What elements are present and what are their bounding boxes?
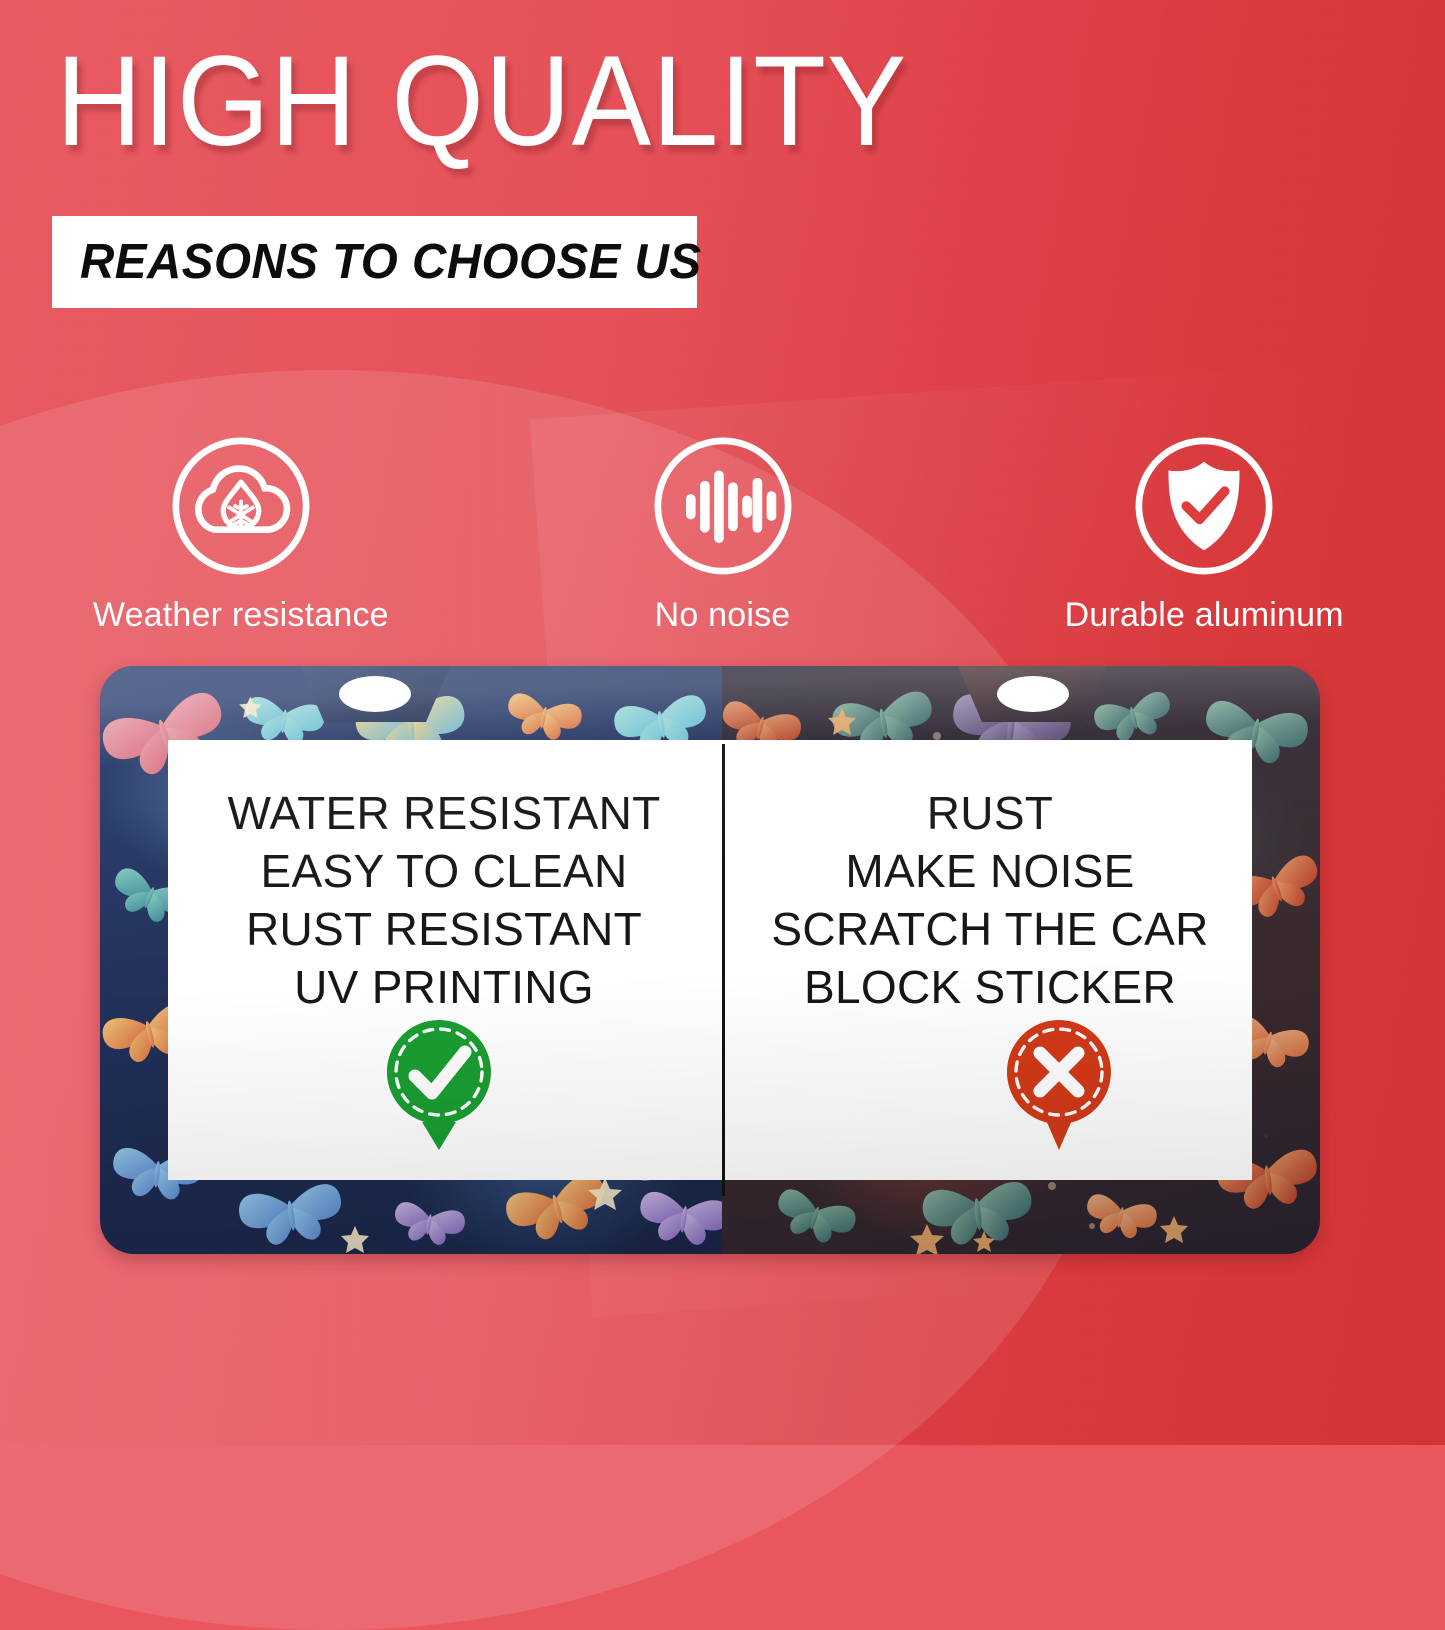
feature-weather-resistance: Weather resistance (0, 432, 482, 635)
shield-check-icon (1130, 432, 1278, 580)
license-plate-frame-product: WATER RESISTANT EASY TO CLEAN RUST RESIS… (100, 666, 1320, 1254)
pros-line: WATER RESISTANT (184, 784, 704, 842)
feature-label: Durable aluminum (1065, 596, 1344, 635)
pros-line: UV PRINTING (184, 958, 704, 1016)
cons-line: RUST (730, 784, 1250, 842)
subtitle-banner: REASONS TO CHOOSE US (52, 216, 697, 308)
feature-list: Weather resistance No noise (0, 432, 1445, 635)
mounting-hole-right (997, 676, 1069, 712)
pros-line: EASY TO CLEAN (184, 842, 704, 900)
subtitle-text: REASONS TO CHOOSE US (80, 234, 702, 290)
cons-line: SCRATCH THE CAR (730, 900, 1250, 958)
cross-mark-icon (990, 1016, 1128, 1154)
plate-frame-body: WATER RESISTANT EASY TO CLEAN RUST RESIS… (100, 666, 1320, 1254)
cloud-water-snowflake-icon (167, 432, 315, 580)
cons-column: RUST MAKE NOISE SCRATCH THE CAR BLOCK ST… (730, 784, 1250, 1016)
cons-badge (990, 1016, 1128, 1154)
page-title: HIGH QUALITY (56, 38, 907, 166)
mounting-tab-right (958, 666, 1108, 722)
feature-durable-aluminum: Durable aluminum (963, 432, 1445, 635)
mounting-tab-left (300, 666, 450, 722)
pros-column: WATER RESISTANT EASY TO CLEAN RUST RESIS… (184, 784, 704, 1016)
feature-label: No noise (655, 596, 791, 635)
cons-line: MAKE NOISE (730, 842, 1250, 900)
comparison-divider (722, 744, 725, 1196)
check-mark-icon (370, 1016, 508, 1154)
pros-badge (370, 1016, 508, 1154)
feature-label: Weather resistance (93, 596, 389, 635)
sound-wave-icon (649, 432, 797, 580)
pros-line: RUST RESISTANT (184, 900, 704, 958)
cons-line: BLOCK STICKER (730, 958, 1250, 1016)
mounting-hole-left (339, 676, 411, 712)
feature-no-noise: No noise (482, 432, 964, 635)
